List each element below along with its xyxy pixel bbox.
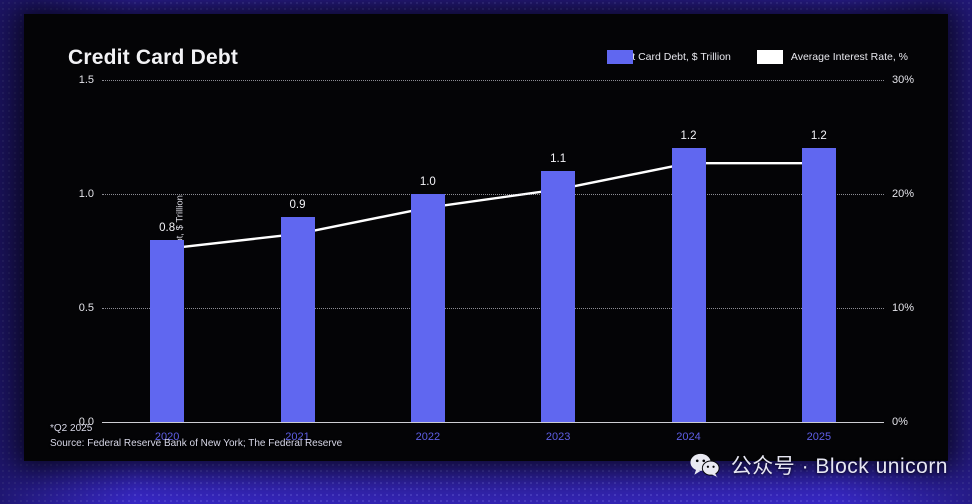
y-axis-left-tick: 1.5 (79, 74, 94, 86)
y-axis-right-tick: 20% (892, 188, 914, 200)
gridline-left (102, 308, 884, 309)
legend-item-rate[interactable]: Average Interest Rate, % (757, 50, 908, 64)
x-axis-tick-2024: 2024 (676, 431, 700, 443)
y-axis-right-tick: 0% (892, 416, 908, 428)
y-axis-left-tick: 0.5 (79, 302, 94, 314)
chart-legend: Credit Card Debt, $ Trillion Average Int… (607, 50, 908, 64)
watermark: 公众号 · Block unicorn (690, 450, 948, 480)
y-axis-right-tick: 10% (892, 302, 914, 314)
bar-value-label-2025: 1.2 (811, 130, 827, 142)
bar-2020[interactable] (150, 240, 184, 422)
bar-value-label-2024: 1.2 (681, 130, 697, 142)
bar-value-label-2022: 1.0 (420, 176, 436, 188)
wechat-icon (690, 452, 720, 478)
bar-value-label-2021: 0.9 (290, 199, 306, 211)
x-axis-tick-2022: 2022 (416, 431, 440, 443)
gridline-left (102, 194, 884, 195)
chart-footnotes: *Q2 2025 Source: Federal Reserve Bank of… (50, 422, 342, 451)
bar-2023[interactable] (541, 171, 575, 422)
watermark-text: 公众号 · Block unicorn (731, 450, 948, 480)
x-axis-tick-2023: 2023 (546, 431, 570, 443)
bar-2022[interactable] (411, 194, 445, 422)
bar-value-label-2020: 0.8 (159, 222, 175, 234)
interest-rate-line-series (102, 80, 884, 422)
bar-2025[interactable] (802, 148, 836, 422)
footnote-period: *Q2 2025 (50, 422, 342, 437)
gridline-left (102, 80, 884, 81)
y-axis-left-tick: 1.0 (79, 188, 94, 200)
y-axis-right-tick: 30% (892, 74, 914, 86)
legend-item-debt[interactable]: Credit Card Debt, $ Trillion (607, 51, 731, 63)
bar-2024[interactable] (672, 148, 706, 422)
bar-value-label-2023: 1.1 (550, 153, 566, 165)
legend-label-rate: Average Interest Rate, % (791, 51, 908, 63)
interest-rate-line (167, 163, 819, 249)
legend-swatch-rate (757, 50, 783, 64)
x-axis-tick-2025: 2025 (807, 431, 831, 443)
legend-swatch-debt (607, 50, 633, 64)
plot-area: Credit Card Debt, $ Trillion Average Int… (102, 80, 884, 422)
bar-2021[interactable] (281, 217, 315, 422)
chart-title: Credit Card Debt (68, 46, 238, 70)
footnote-source: Source: Federal Reserve Bank of New York… (50, 437, 342, 452)
chart-card: Credit Card Debt Credit Card Debt, $ Tri… (24, 14, 948, 461)
